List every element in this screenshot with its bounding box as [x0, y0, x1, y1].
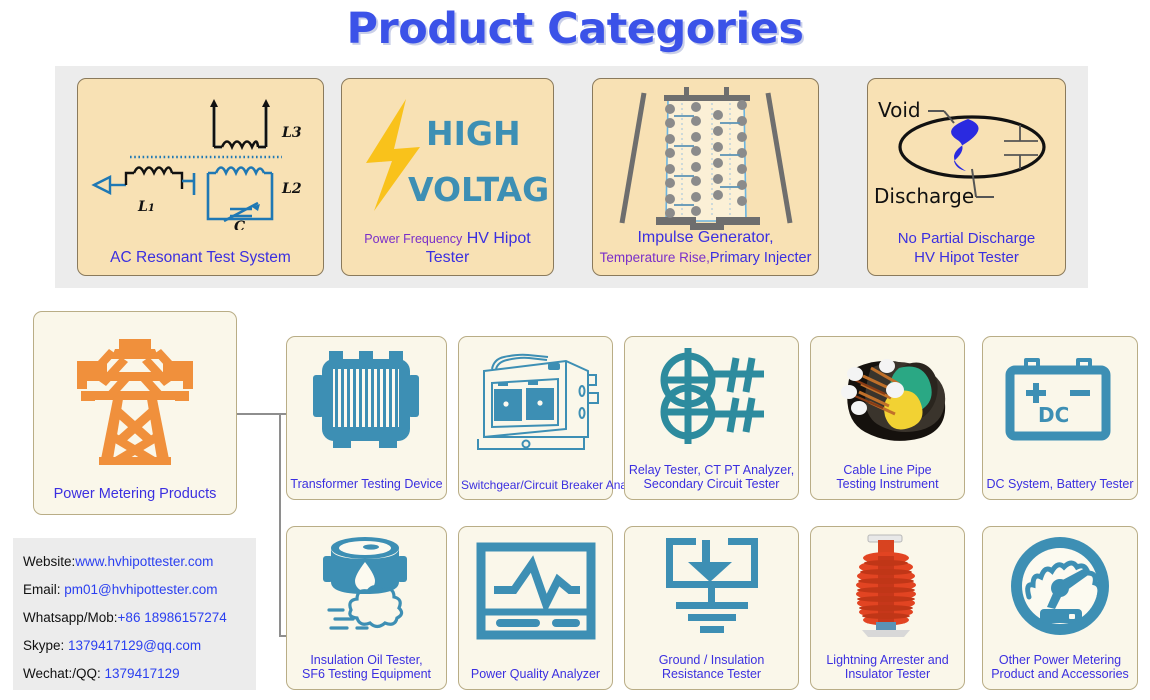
waveform-monitor-icon [459, 533, 612, 649]
transmission-tower-icon [34, 326, 236, 472]
contact-row-email: Email: pm01@hvhipottester.com [23, 576, 256, 604]
card-label-line2: Product and Accessories [985, 667, 1135, 682]
card-label: Switchgear/Circuit Breaker Analyzer [461, 478, 610, 492]
contact-label: Wechat:/QQ: [23, 666, 105, 681]
contact-row-whatsapp: Whatsapp/Mob:+86 18986157274 [23, 604, 256, 632]
card-power-metering-products[interactable]: Power Metering Products [33, 311, 237, 515]
battery-dc-icon: DC [983, 343, 1137, 459]
card-impulse-generator[interactable]: Impulse Generator, Temperature Rise,Prim… [592, 78, 819, 276]
card-power-frequency-hv-hipot-tester[interactable]: HIGH VOLTAGE Power Frequency HV Hipot Te… [341, 78, 554, 276]
contact-row-website: Website:www.hvhipottester.com [23, 548, 256, 576]
contact-value[interactable]: 1379417129 [105, 666, 180, 681]
svg-text:L3: L3 [281, 125, 302, 141]
card-label-line1: Lightning Arrester and [813, 653, 962, 668]
connector-trunk [279, 413, 281, 637]
voltage-text: VOLTAGE [408, 170, 548, 209]
cable-cross-section-icon [811, 343, 964, 449]
card-label-line2: Resistance Tester [627, 667, 796, 682]
card-transformer-testing-device[interactable]: Transformer Testing Device [286, 336, 447, 500]
contact-label: Whatsapp/Mob: [23, 610, 118, 625]
lightning-arrester-icon [811, 533, 964, 639]
partial-discharge-void-icon: Void Discharge [868, 85, 1065, 223]
card-label: Impulse Generator, Temperature Rise,Prim… [593, 229, 818, 267]
card-label-line1: Other Power Metering [985, 653, 1135, 668]
card-switchgear-circuit-breaker-analyzer[interactable]: Switchgear/Circuit Breaker Analyzer [458, 336, 613, 500]
contact-value[interactable]: +86 18986157274 [118, 610, 227, 625]
card-label-line1: Relay Tester, CT PT Analyzer, [627, 463, 796, 478]
contact-label: Website: [23, 554, 75, 569]
card-insulation-oil-tester-sf6[interactable]: Insulation Oil Tester, SF6 Testing Equip… [286, 526, 447, 690]
card-label-line2: Insulator Tester [813, 667, 962, 682]
svg-text:DC: DC [1038, 403, 1069, 427]
card-label: DC System, Battery Tester [985, 477, 1135, 492]
high-text: HIGH [426, 114, 521, 153]
relay-ct-pt-symbol-icon [625, 343, 798, 449]
contact-label: Email: [23, 582, 64, 597]
card-power-quality-analyzer[interactable]: Power Quality Analyzer [458, 526, 613, 690]
card-label-line1: Ground / Insulation [627, 653, 796, 668]
switchgear-cabinet-icon [459, 343, 612, 459]
card-other-power-metering-product[interactable]: Other Power Metering Product and Accesso… [982, 526, 1138, 690]
card-label-line1: Insulation Oil Tester, [289, 653, 444, 668]
card-lightning-arrester-insulator-tester[interactable]: Lightning Arrester and Insulator Tester [810, 526, 965, 690]
contact-info-box: Website:www.hvhipottester.com Email: pm0… [13, 538, 256, 690]
svg-text:L2: L2 [281, 181, 302, 197]
ground-arrow-icon [625, 533, 798, 639]
connector-hub-stub [237, 413, 281, 415]
contact-value[interactable]: 1379417129@qq.com [68, 638, 201, 653]
contact-row-wechat: Wechat:/QQ: 1379417129 [23, 660, 256, 688]
card-no-partial-discharge[interactable]: Void Discharge No Partial Discharge HV H… [867, 78, 1066, 276]
card-label: Relay Tester, CT PT Analyzer, Secondary … [627, 463, 796, 493]
card-label: Power Frequency HV Hipot Tester [342, 230, 553, 267]
card-label: Insulation Oil Tester, SF6 Testing Equip… [289, 653, 444, 683]
oil-drum-gas-icon [287, 533, 446, 639]
svg-text:C: C [234, 219, 245, 230]
transformer-icon [287, 343, 446, 459]
high-voltage-icon: HIGH VOLTAGE [342, 85, 553, 223]
card-label-line2: Testing Instrument [813, 477, 962, 492]
card-dc-system-battery-tester[interactable]: DC DC System, Battery Tester [982, 336, 1138, 500]
card-ground-insulation-resistance-tester[interactable]: Ground / Insulation Resistance Tester [624, 526, 799, 690]
card-label: Lightning Arrester and Insulator Tester [813, 653, 962, 683]
discharge-label: Discharge [874, 184, 974, 208]
card-label: Other Power Metering Product and Accesso… [985, 653, 1135, 683]
card-cable-line-pipe-testing-instrument[interactable]: Cable Line Pipe Testing Instrument [810, 336, 965, 500]
card-label-line2: Secondary Circuit Tester [627, 477, 796, 492]
resonant-circuit-diagram-icon: L3 L1 [78, 85, 323, 223]
gauge-meter-icon [983, 533, 1137, 639]
card-label: No Partial Discharge HV Hipot Tester [868, 230, 1065, 267]
contact-value[interactable]: pm01@hvhipottester.com [64, 582, 217, 597]
card-label: Ground / Insulation Resistance Tester [627, 653, 796, 683]
card-relay-tester-ct-pt-analyzer[interactable]: Relay Tester, CT PT Analyzer, Secondary … [624, 336, 799, 500]
impulse-generator-stack-icon [593, 85, 818, 223]
contact-value[interactable]: www.hvhipottester.com [75, 554, 213, 569]
contact-row-skype: Skype: 1379417129@qq.com [23, 632, 256, 660]
card-label-line1: Cable Line Pipe [813, 463, 962, 478]
card-label: Cable Line Pipe Testing Instrument [813, 463, 962, 493]
card-ac-resonant-test-system[interactable]: L3 L1 [77, 78, 324, 276]
top-categories-panel: L3 L1 [55, 66, 1088, 288]
card-label-line2: SF6 Testing Equipment [289, 667, 444, 682]
void-label: Void [878, 98, 921, 122]
contact-label: Skype: [23, 638, 68, 653]
card-label: Transformer Testing Device [289, 477, 444, 492]
svg-text:L1: L1 [137, 199, 155, 215]
card-label: Power Quality Analyzer [461, 667, 610, 682]
card-label: AC Resonant Test System [78, 249, 323, 267]
card-label: Power Metering Products [34, 486, 236, 502]
page-title: Product Categories [0, 4, 1150, 54]
